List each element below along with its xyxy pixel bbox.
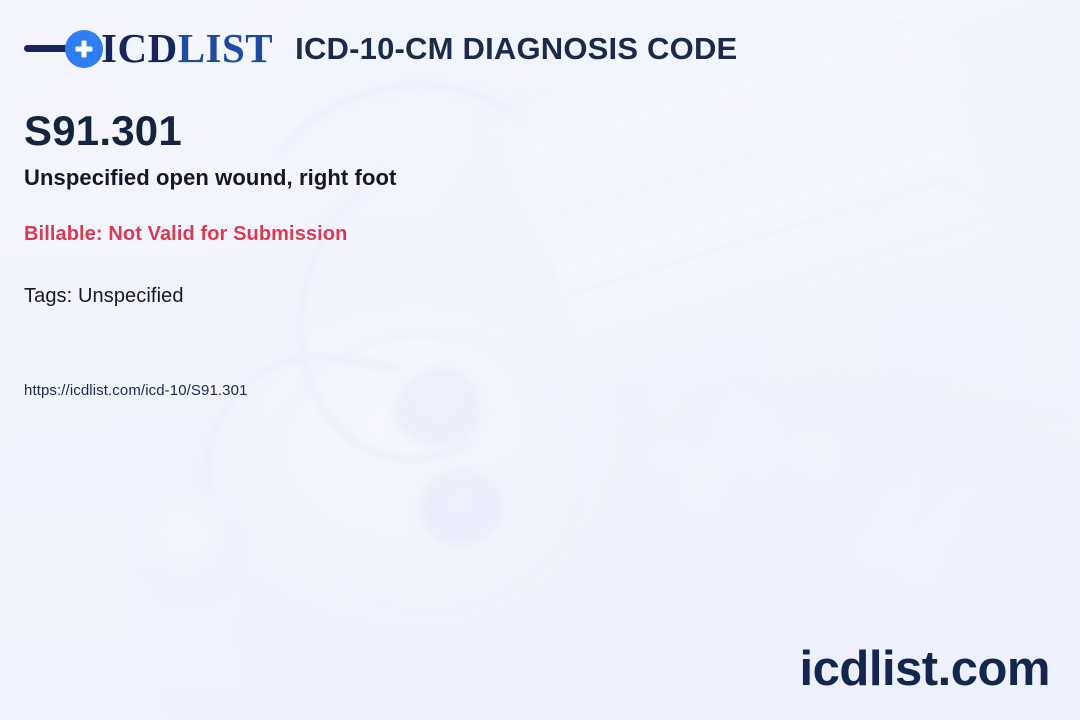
plus-circle-icon (65, 30, 103, 68)
diagnosis-code: S91.301 (24, 108, 182, 154)
logo-dash-icon (24, 45, 70, 52)
source-url[interactable]: https://icdlist.com/icd-10/S91.301 (24, 382, 248, 399)
card-content: ICDLIST ICD-10-CM DIAGNOSIS CODE S91.301… (0, 0, 1080, 720)
logo-text-list: LIST (178, 28, 273, 69)
icd-code-card: ICDLIST ICD-10-CM DIAGNOSIS CODE S91.301… (0, 0, 1080, 720)
plus-horizontal-stroke (76, 46, 93, 51)
logo-text-icd: ICD (101, 28, 178, 69)
diagnosis-description: Unspecified open wound, right foot (24, 165, 396, 191)
page-title: ICD-10-CM DIAGNOSIS CODE (295, 33, 737, 64)
icdlist-logo[interactable]: ICDLIST (24, 28, 273, 69)
billable-status: Billable: Not Valid for Submission (24, 223, 347, 246)
tags-label: Tags: Unspecified (24, 285, 184, 308)
header: ICDLIST ICD-10-CM DIAGNOSIS CODE (24, 28, 737, 69)
brand-watermark: icdlist.com (800, 645, 1050, 694)
